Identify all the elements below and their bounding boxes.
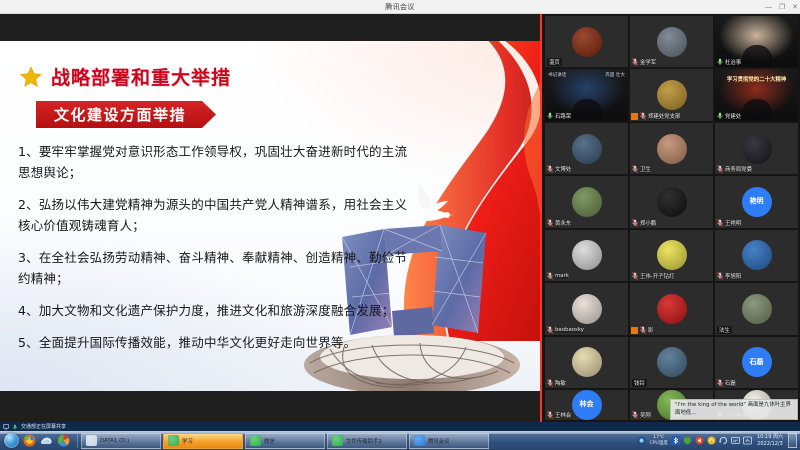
slide-bullet: 3、在全社会弘扬劳动精神、奋斗精神、奉献精神、创造精神、勤俭节约精神； — [18, 247, 408, 289]
clock-weekday: 周六 — [773, 434, 783, 440]
taskbar-clock[interactable]: 10:19 周六 2022/12/3 — [755, 434, 785, 447]
participant-tile[interactable]: 学习贯彻党的二十大精神 党建处 — [715, 69, 798, 120]
participant-avatar — [657, 347, 687, 377]
presentation-slide: 战略部署和重大举措 文化建设方面举措 1、要牢牢掌握党对意识形态工作领导权，巩固… — [0, 41, 540, 391]
browser-icon[interactable] — [40, 434, 53, 447]
participant-name-bar: 石磊 — [717, 379, 736, 387]
participant-avatar — [572, 134, 602, 164]
participant-name: 王伟-开子钻灯 — [640, 272, 674, 280]
close-button[interactable]: ✕ — [792, 4, 798, 11]
participant-name: 陶敏 — [555, 379, 566, 387]
participant-avatar — [742, 240, 772, 270]
participant-name: 吴刚 — [640, 411, 651, 419]
participant-tile[interactable]: 陶敏 — [545, 337, 628, 388]
chat-icon — [332, 435, 343, 446]
participant-name-bar: 金学军 — [632, 58, 656, 66]
taskbar-button[interactable]: 微信 — [245, 433, 325, 449]
participant-tile[interactable]: 金学军 — [630, 16, 713, 67]
slide-bullet: 4、加大文物和文化遗产保护力度，推进文化和旅游深度融合发展； — [18, 300, 408, 321]
participant-name-bar: 石路荣 — [547, 112, 571, 120]
slide-bullet: 5、全面提升国际传播效能，推动中华文化更好走向世界等。 — [18, 332, 408, 353]
cpu-temp-label: CPU温度 — [649, 441, 668, 446]
mic-muted-icon — [632, 58, 638, 66]
window-titlebar: 腾讯会议 — ❐ ✕ — [0, 0, 800, 14]
participant-name-bar: 郑建处党支部 — [640, 112, 680, 120]
participant-name: 杜治事 — [725, 58, 741, 66]
window-title: 腾讯会议 — [385, 2, 415, 12]
participant-tile[interactable]: 林会 王林会 — [545, 390, 628, 420]
participant-name-bar: 王伟-开子钻灯 — [632, 272, 674, 280]
bluetooth-icon[interactable] — [671, 436, 680, 445]
slide-heading-row: 战略部署和重大举措 — [20, 63, 231, 90]
taskbar-separator — [77, 434, 78, 448]
participant-tile[interactable]: 法生 — [715, 283, 798, 334]
clock-date: 2022/12/3 — [757, 441, 783, 447]
shield-icon[interactable] — [683, 436, 692, 445]
mic-muted-icon — [640, 112, 646, 120]
mic-muted-icon — [717, 272, 723, 280]
participant-name-bar: 党建处 — [717, 112, 741, 120]
taskbar-button[interactable]: 文件传输助手2 — [327, 433, 407, 449]
participant-name-bar: 商务局党委 — [717, 165, 752, 173]
mic-muted-icon — [632, 411, 638, 419]
quick-launch-area[interactable] — [0, 433, 74, 448]
participant-name-bar: 郑小鹏 — [632, 219, 656, 227]
participant-avatar — [572, 27, 602, 57]
tray-expand-icon[interactable] — [743, 436, 752, 445]
participant-grid[interactable]: 温页 金学军 杜治事正在讲话: 党建处书记讲话巩固 壮大 石路荣 郑建处党支部学… — [540, 14, 800, 422]
show-desktop-button[interactable] — [788, 433, 797, 448]
media-player-icon[interactable] — [23, 434, 36, 447]
participant-head-silhouette — [572, 99, 602, 121]
microphone-icon — [12, 424, 18, 430]
participant-name-bar: 影 — [640, 326, 653, 334]
participant-tile[interactable]: 书记讲话巩固 壮大 石路荣 — [545, 69, 628, 120]
host-badge — [631, 327, 638, 334]
slide-section-banner: 文化建设方面举措 — [36, 101, 216, 128]
mic-muted-icon — [717, 165, 723, 173]
participant-avatar: 林会 — [572, 390, 602, 420]
host-badge — [631, 113, 638, 120]
mic-icon — [717, 112, 723, 120]
participant-name: 钱铃 — [632, 379, 647, 387]
mic-muted-icon — [547, 219, 553, 227]
monitor-icon — [3, 424, 9, 430]
tile-corner-note-right: 巩固 壮大 — [605, 72, 625, 78]
cpu-temp-readout: 17℃ CPU温度 — [649, 435, 668, 446]
gold-star-icon — [20, 66, 42, 88]
participant-tile[interactable]: 石磊 石磊 — [715, 337, 798, 388]
windows-taskbar[interactable]: DATA1 (D:)学习微信文件传输助手2腾讯会议 17℃ CPU温度 — [0, 431, 800, 450]
taskbar-button-label: DATA1 (D:) — [100, 438, 129, 444]
update-icon[interactable] — [719, 436, 728, 445]
taskbar-buttons[interactable]: DATA1 (D:)学习微信文件传输助手2腾讯会议 — [81, 433, 491, 449]
participant-name-bar: 钱铃 — [632, 379, 647, 387]
participant-avatar — [657, 80, 687, 110]
participant-name-bar: 温页 — [547, 58, 562, 66]
taskbar-button-label: 微信 — [264, 437, 275, 445]
system-tray[interactable]: 17℃ CPU温度 10:19 周六 — [637, 433, 800, 448]
participant-name-bar: 陶敏 — [547, 379, 566, 387]
taskbar-button-label: 学习 — [182, 437, 193, 445]
participant-avatar: 石磊 — [742, 347, 772, 377]
share-indicator-label: 交通部正在屏幕共享 — [21, 423, 66, 430]
mic-muted-icon — [547, 165, 553, 173]
participant-head-silhouette — [742, 99, 772, 121]
windows-start-orb[interactable] — [4, 433, 19, 448]
participant-tile[interactable]: 温页 — [545, 16, 628, 67]
taskbar-button-label: 文件传输助手2 — [346, 437, 382, 445]
participant-name: 石磊 — [725, 379, 736, 387]
mic-muted-icon — [632, 219, 638, 227]
participant-name: 郑小鹏 — [640, 219, 656, 227]
participant-name-bar: mark — [547, 272, 569, 280]
participant-avatar — [572, 240, 602, 270]
mic-muted-icon — [717, 379, 723, 387]
participant-tile[interactable]: 郑小鹏 — [630, 176, 713, 227]
participant-tile[interactable]: 黄永东 — [545, 176, 628, 227]
taskbar-button[interactable]: 腾讯会议 — [409, 433, 489, 449]
color-wheel-icon[interactable] — [57, 434, 70, 447]
participant-avatar — [572, 294, 602, 324]
participant-name-bar: 杜治事 — [717, 58, 741, 66]
participant-tile[interactable]: mark — [545, 230, 628, 281]
participant-avatar — [572, 347, 602, 377]
maximize-button[interactable]: ❐ — [779, 4, 785, 11]
participant-tile[interactable]: 艳明 王艳明 — [715, 176, 798, 227]
participant-name: 石路荣 — [555, 112, 571, 120]
participant-tile[interactable]: 王伟-开子钻灯 — [630, 230, 713, 281]
slide-bullet: 2、弘扬以伟大建党精神为源头的中国共产党人精神谱系，用社会主义核心价值观铸魂育人… — [18, 194, 408, 236]
participant-head-silhouette — [742, 45, 772, 67]
window-controls: — ❐ ✕ — [765, 0, 798, 14]
participant-tile[interactable]: 钱铃 — [630, 337, 713, 388]
participant-avatar — [742, 294, 772, 324]
participant-name: 商务局党委 — [725, 165, 752, 173]
tile-corner-note: 书记讲话 — [548, 72, 566, 78]
slide-bullet-list: 1、要牢牢掌握党对意识形态工作领导权，巩固壮大奋进新时代的主流思想舆论； 2、弘… — [18, 141, 408, 364]
participant-name-bar: 法生 — [717, 326, 732, 334]
participant-name-bar: 文博处 — [547, 165, 571, 173]
network-icon[interactable] — [707, 436, 716, 445]
participant-name: 卫生 — [640, 165, 651, 173]
taskbar-button-label: 腾讯会议 — [428, 437, 450, 445]
participant-tile[interactable]: 卫生 — [630, 123, 713, 174]
mic-muted-icon — [547, 272, 553, 280]
mic-muted-icon — [632, 165, 638, 173]
taskbar-button[interactable]: 学习 — [163, 433, 243, 449]
mic-muted-icon — [547, 411, 553, 419]
taskbar-button[interactable]: DATA1 (D:) — [81, 433, 161, 449]
mic-muted-icon — [640, 326, 646, 334]
participant-tile[interactable]: 李旭阳 — [715, 230, 798, 281]
participant-avatar — [742, 134, 772, 164]
mic-icon — [717, 58, 723, 66]
chat-toast[interactable]: "I'm the king of the world" 画面是九休叶主界面地低.… — [670, 399, 798, 420]
meeting-icon — [168, 435, 179, 446]
meeting-window: 战略部署和重大举措 文化建设方面举措 1、要牢牢掌握党对意识形态工作领导权，巩固… — [0, 14, 800, 422]
participant-tile[interactable]: 影 — [630, 283, 713, 334]
tencent-meeting-icon — [414, 435, 425, 446]
participant-name: baobaosky — [555, 327, 584, 333]
participant-avatar — [657, 294, 687, 324]
participant-name: 影 — [648, 326, 653, 334]
participant-tile[interactable]: 商务局党委 — [715, 123, 798, 174]
participant-avatar — [657, 134, 687, 164]
participant-name: 党建处 — [725, 112, 741, 120]
participant-name-bar: 王林会 — [547, 411, 571, 419]
participant-name-bar: baobaosky — [547, 326, 584, 334]
mic-muted-icon — [547, 326, 553, 334]
clock-time: 10:19 — [757, 434, 771, 440]
participant-tile[interactable]: baobaosky — [545, 283, 628, 334]
tile-banner-text: 学习贯彻党的二十大精神 — [715, 75, 798, 83]
participant-name-bar: 李旭阳 — [717, 272, 741, 280]
mic-muted-icon — [547, 379, 553, 387]
minimize-button[interactable]: — — [765, 4, 772, 11]
participant-name: 李旭阳 — [725, 272, 741, 280]
participant-name: 温页 — [547, 58, 562, 66]
participant-name-bar: 吴刚 — [632, 411, 651, 419]
participant-tile[interactable]: 杜治事正在讲话: 党建处 — [715, 16, 798, 67]
cpu-monitor-icon[interactable] — [637, 436, 646, 445]
participant-avatar — [572, 187, 602, 217]
folder-icon — [86, 435, 97, 446]
participant-tile[interactable]: 文博处 — [545, 123, 628, 174]
ime-icon[interactable] — [731, 436, 740, 445]
mic-icon — [547, 112, 553, 120]
sound-icon[interactable] — [695, 436, 704, 445]
participant-name: mark — [555, 273, 569, 279]
participant-name: 文博处 — [555, 165, 571, 173]
participant-avatar — [657, 27, 687, 57]
participant-name-bar: 卫生 — [632, 165, 651, 173]
slide-heading: 战略部署和重大举措 — [51, 63, 231, 90]
participant-name: 金学军 — [640, 58, 656, 66]
wechat-icon — [250, 435, 261, 446]
shared-screen-stage: 战略部署和重大举措 文化建设方面举措 1、要牢牢掌握党对意识形态工作领导权，巩固… — [0, 14, 540, 422]
mic-muted-icon — [632, 272, 638, 280]
participant-avatar — [657, 240, 687, 270]
participant-name: 法生 — [717, 326, 732, 334]
mic-muted-icon — [717, 219, 723, 227]
slide-bullet: 1、要牢牢掌握党对意识形态工作领导权，巩固壮大奋进新时代的主流思想舆论； — [18, 141, 408, 183]
participant-name: 王艳明 — [725, 219, 741, 227]
participant-tile[interactable]: 郑建处党支部 — [630, 69, 713, 120]
participant-name: 黄永东 — [555, 219, 571, 227]
participant-name-bar: 黄永东 — [547, 219, 571, 227]
participant-avatar: 艳明 — [742, 187, 772, 217]
participant-name: 郑建处党支部 — [648, 112, 680, 120]
participant-name-bar: 王艳明 — [717, 219, 741, 227]
participant-avatar — [657, 187, 687, 217]
participant-name: 王林会 — [555, 411, 571, 419]
screen-share-indicator: 交通部正在屏幕共享 — [0, 422, 800, 431]
